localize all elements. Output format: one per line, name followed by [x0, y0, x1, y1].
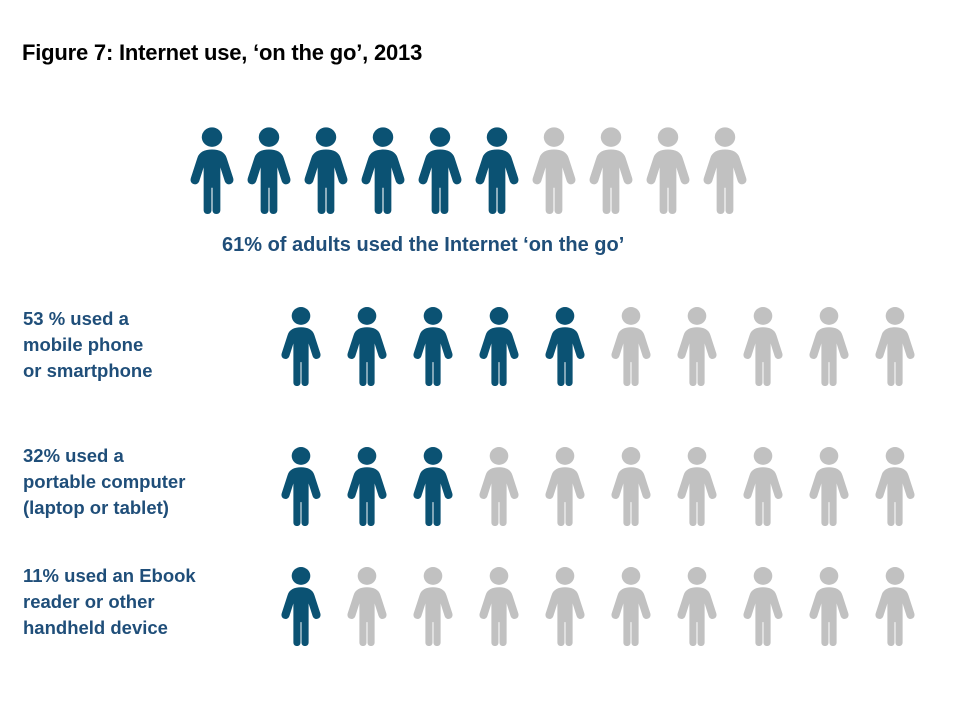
person-pictogram-filled — [359, 103, 407, 214]
row-label-portable-line-3: (laptop or tablet) — [23, 495, 271, 521]
person-pictogram-filled — [340, 305, 394, 386]
row-label-portable: 32% used a portable computer (laptop or … — [23, 443, 271, 521]
person-pictogram-empty — [802, 565, 856, 646]
person-pictogram-empty — [644, 103, 692, 214]
person-pictogram-filled — [472, 305, 526, 386]
person-pictogram-empty — [868, 445, 922, 526]
person-pictogram-empty — [868, 305, 922, 386]
person-pictogram-empty — [604, 305, 658, 386]
person-pictogram-empty — [736, 445, 790, 526]
person-pictogram-filled — [188, 103, 236, 214]
person-pictogram-empty — [530, 103, 578, 214]
person-pictogram-empty — [406, 565, 460, 646]
person-pictogram-filled — [274, 445, 328, 526]
person-pictogram-filled — [406, 305, 460, 386]
person-pictogram-empty — [736, 565, 790, 646]
row-label-mobile: 53 % used a mobile phone or smartphone — [23, 306, 271, 384]
person-pictogram-empty — [670, 565, 724, 646]
row-label-mobile-line-1: 53 % used a — [23, 306, 271, 332]
person-pictogram-empty — [802, 305, 856, 386]
row-label-ebook-line-3: handheld device — [23, 615, 271, 641]
person-pictogram-empty — [670, 305, 724, 386]
person-pictogram-empty — [868, 565, 922, 646]
person-pictogram-filled — [340, 445, 394, 526]
person-pictogram-filled — [245, 103, 293, 214]
pictogram-row-mobile — [274, 305, 922, 386]
person-pictogram-empty — [587, 103, 635, 214]
person-pictogram-empty — [736, 305, 790, 386]
person-pictogram-empty — [670, 445, 724, 526]
person-pictogram-filled — [274, 565, 328, 646]
row-label-mobile-line-3: or smartphone — [23, 358, 271, 384]
row-label-portable-line-2: portable computer — [23, 469, 271, 495]
person-pictogram-filled — [538, 305, 592, 386]
person-pictogram-filled — [416, 103, 464, 214]
person-pictogram-empty — [538, 565, 592, 646]
person-pictogram-empty — [604, 445, 658, 526]
row-label-ebook: 11% used an Ebook reader or other handhe… — [23, 563, 271, 641]
person-pictogram-empty — [472, 565, 526, 646]
caption-total: 61% of adults used the Internet ‘on the … — [222, 234, 624, 257]
person-pictogram-filled — [274, 305, 328, 386]
row-label-ebook-line-2: reader or other — [23, 589, 271, 615]
person-pictogram-filled — [302, 103, 350, 214]
person-pictogram-filled — [406, 445, 460, 526]
page-title: Figure 7: Internet use, ‘on the go’, 201… — [22, 40, 422, 66]
person-pictogram-empty — [538, 445, 592, 526]
person-pictogram-empty — [604, 565, 658, 646]
row-label-portable-line-1: 32% used a — [23, 443, 271, 469]
person-pictogram-empty — [701, 103, 749, 214]
person-pictogram-empty — [802, 445, 856, 526]
pictogram-row-ebook — [274, 565, 922, 646]
person-pictogram-filled — [473, 103, 521, 214]
person-pictogram-empty — [472, 445, 526, 526]
row-label-ebook-line-1: 11% used an Ebook — [23, 563, 271, 589]
row-label-mobile-line-2: mobile phone — [23, 332, 271, 358]
pictogram-row-total — [188, 103, 749, 214]
pictogram-row-portable — [274, 445, 922, 526]
person-pictogram-empty — [340, 565, 394, 646]
